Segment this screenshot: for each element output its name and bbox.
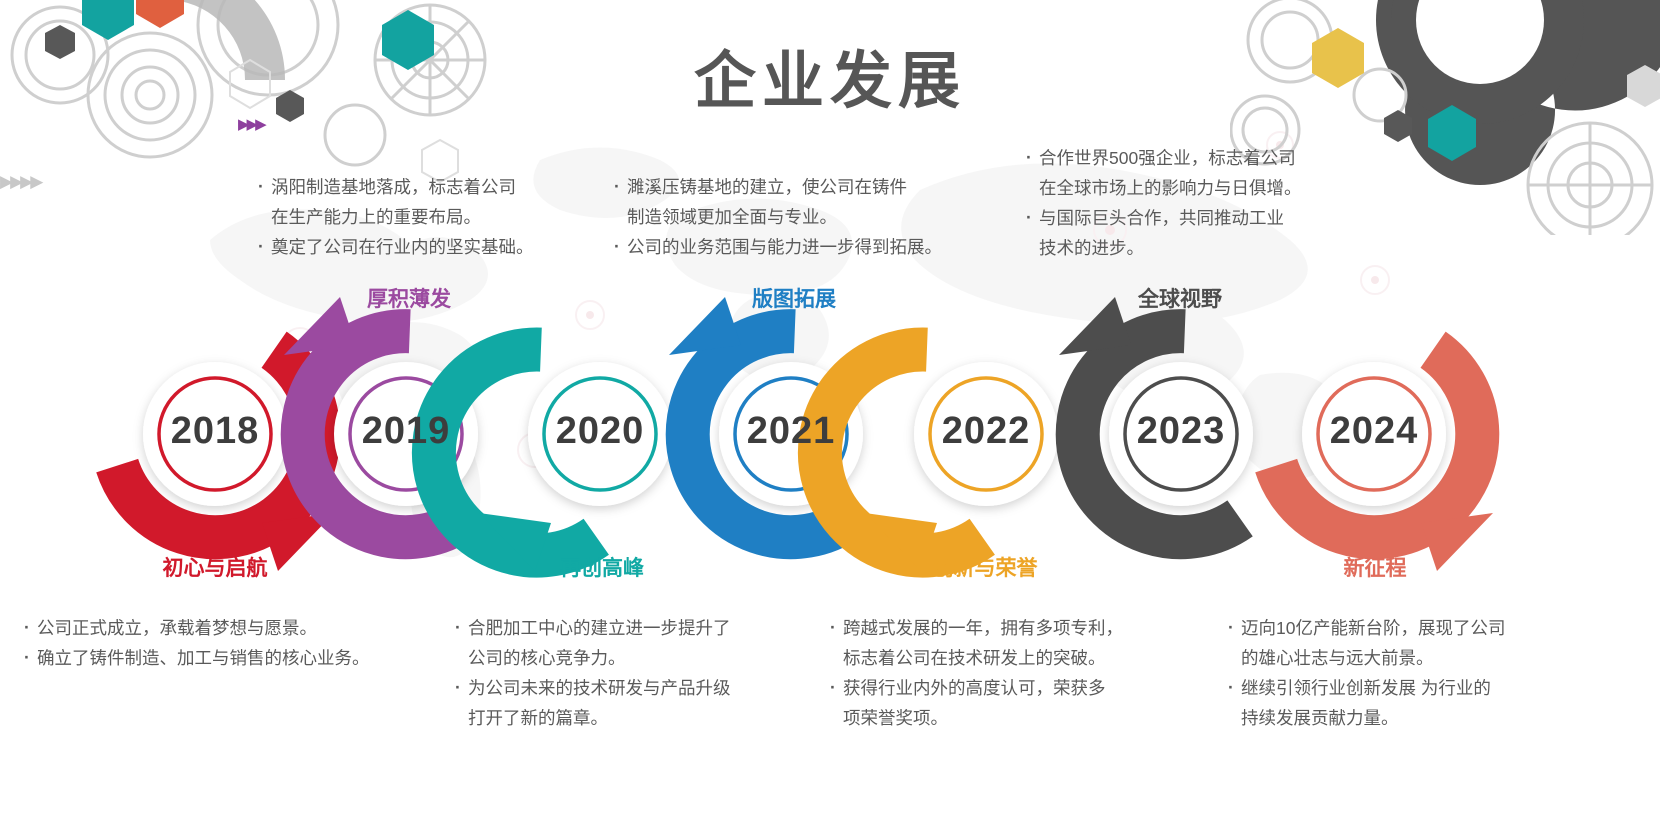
year-2023: 2023 [1106,410,1256,453]
year-2022: 2022 [911,410,1061,453]
milestone-label-2023: 全球视野 [1070,283,1290,313]
year-2021: 2021 [716,410,866,453]
milestone-label-2020: 再创高峰 [492,552,712,582]
milestone-label-2021: 版图拓展 [684,283,904,313]
milestone-label-2022: 创新与荣誉 [875,552,1095,582]
year-2018: 2018 [140,410,290,453]
year-2020: 2020 [525,410,675,453]
year-2019: 2019 [331,410,481,453]
milestone-label-2019: 厚积薄发 [299,283,519,313]
timeline: 2018 2019 2020 2021 2022 2023 2024 初心与启航… [0,0,1660,829]
year-2024: 2024 [1299,410,1449,453]
milestone-label-2024: 新征程 [1265,552,1485,582]
milestone-label-2018: 初心与启航 [105,552,325,582]
